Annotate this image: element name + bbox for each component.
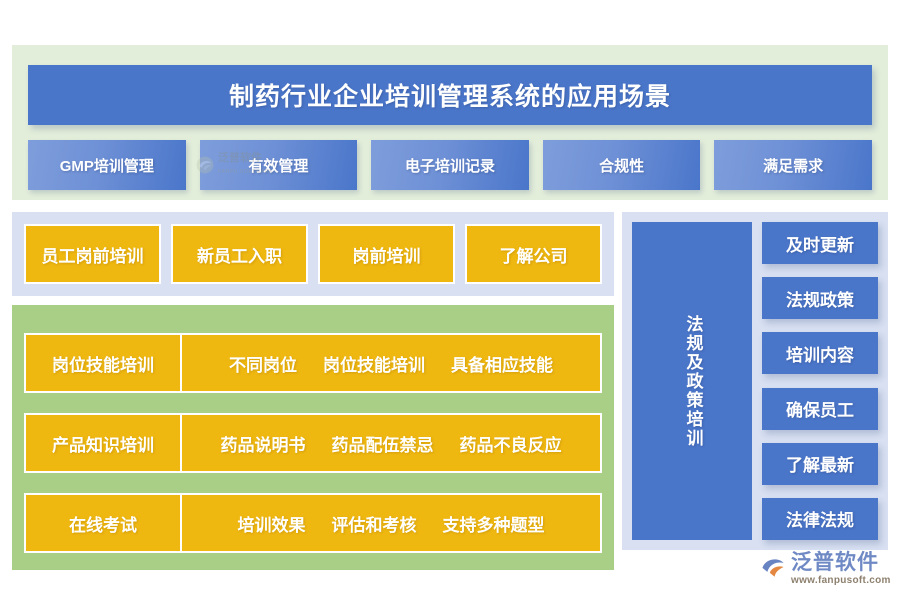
header-chip-label: GMP培训管理 [60,155,154,176]
regulation-item-label: 及时更新 [786,231,854,256]
onboarding-item-label: 岗前培训 [353,242,421,267]
regulation-item-label: 法规政策 [786,286,854,311]
onboarding-row: 员工岗前培训 新员工入职 岗前培训 了解公司 [24,224,602,284]
regulation-item-list: 及时更新 法规政策 培训内容 确保员工 了解最新 法律法规 [762,222,878,540]
program-row-segment: 药品不良反应 [460,431,562,456]
program-row-label-cell[interactable]: 产品知识培训 [24,413,182,473]
program-row: 在线考试 培训效果 评估和考核 支持多种题型 [24,493,602,553]
brand-logo-name: 泛普软件 [791,552,891,573]
header-chip-compliance[interactable]: 合规性 [543,140,701,190]
onboarding-item-know-company[interactable]: 了解公司 [465,224,602,284]
fanpu-logo-icon [760,554,786,580]
program-panel: 岗位技能培训 不同岗位 岗位技能培训 具备相应技能 产品知识培训 药品说明书 药… [12,305,614,570]
header-chip-label: 满足需求 [763,155,823,176]
onboarding-item-pre-job-training[interactable]: 员工岗前培训 [24,224,161,284]
header-chip-gmp-training[interactable]: GMP培训管理 [28,140,186,190]
regulation-panel-title-block: 法规及政策培训 [632,222,752,540]
header-chip-label: 电子培训记录 [405,155,495,176]
program-row-segment: 不同岗位 [229,351,297,376]
header-chip-row: GMP培训管理 有效管理 电子培训记录 合规性 满足需求 [28,140,872,190]
regulation-item-training-content[interactable]: 培训内容 [762,332,878,374]
header-chip-label: 有效管理 [248,155,308,176]
program-row-segment: 培训效果 [238,511,306,536]
onboarding-item-label: 员工岗前培训 [42,242,144,267]
program-row-segment: 支持多种题型 [443,511,545,536]
program-row-label: 产品知识培训 [52,431,154,456]
brand-logo-watermark: 泛普软件 www.fanpusoft.com [760,552,898,596]
program-row-label-cell[interactable]: 在线考试 [24,493,182,553]
regulation-panel: 法规及政策培训 及时更新 法规政策 培训内容 确保员工 了解最新 法律法规 [622,212,888,550]
program-row: 岗位技能培训 不同岗位 岗位技能培训 具备相应技能 [24,333,602,393]
regulation-panel-title: 法规及政策培训 [681,315,704,448]
header-panel: 制药行业企业培训管理系统的应用场景 GMP培训管理 有效管理 电子培训记录 合规… [12,45,888,200]
regulation-item-know-latest[interactable]: 了解最新 [762,443,878,485]
regulation-item-laws[interactable]: 法律法规 [762,498,878,540]
program-row-segment: 评估和考核 [332,511,417,536]
onboarding-panel: 员工岗前培训 新员工入职 岗前培训 了解公司 [12,212,614,296]
onboarding-item-label: 新员工入职 [197,242,282,267]
program-row-segment: 药品说明书 [221,431,306,456]
regulation-item-timely-update[interactable]: 及时更新 [762,222,878,264]
program-row-content-cell[interactable]: 不同岗位 岗位技能培训 具备相应技能 [182,333,602,393]
brand-logo-text: 泛普软件 www.fanpusoft.com [791,552,891,586]
regulation-item-label: 法律法规 [786,506,854,531]
brand-logo-url: www.fanpusoft.com [791,575,891,586]
program-row-label: 岗位技能培训 [52,351,154,376]
page-title: 制药行业企业培训管理系统的应用场景 [229,77,671,113]
infographic-canvas: 制药行业企业培训管理系统的应用场景 GMP培训管理 有效管理 电子培训记录 合规… [0,0,900,600]
regulation-item-label: 确保员工 [786,396,854,421]
regulation-item-label: 了解最新 [786,451,854,476]
header-chip-meet-needs[interactable]: 满足需求 [714,140,872,190]
header-chip-effective-management[interactable]: 有效管理 [200,140,358,190]
onboarding-item-new-employee[interactable]: 新员工入职 [171,224,308,284]
regulation-item-label: 培训内容 [786,341,854,366]
regulation-item-ensure-staff[interactable]: 确保员工 [762,388,878,430]
program-row-segment: 岗位技能培训 [323,351,425,376]
program-row-content-cell[interactable]: 培训效果 评估和考核 支持多种题型 [182,493,602,553]
page-title-bar: 制药行业企业培训管理系统的应用场景 [28,65,872,125]
program-row-label: 在线考试 [69,511,137,536]
program-row-segment: 具备相应技能 [451,351,553,376]
regulation-item-policy[interactable]: 法规政策 [762,277,878,319]
onboarding-item-label: 了解公司 [500,242,568,267]
program-row-label-cell[interactable]: 岗位技能培训 [24,333,182,393]
program-row-content-cell[interactable]: 药品说明书 药品配伍禁忌 药品不良反应 [182,413,602,473]
program-row: 产品知识培训 药品说明书 药品配伍禁忌 药品不良反应 [24,413,602,473]
onboarding-item-induction[interactable]: 岗前培训 [318,224,455,284]
header-chip-label: 合规性 [599,155,644,176]
header-chip-electronic-records[interactable]: 电子培训记录 [371,140,529,190]
program-row-segment: 药品配伍禁忌 [332,431,434,456]
